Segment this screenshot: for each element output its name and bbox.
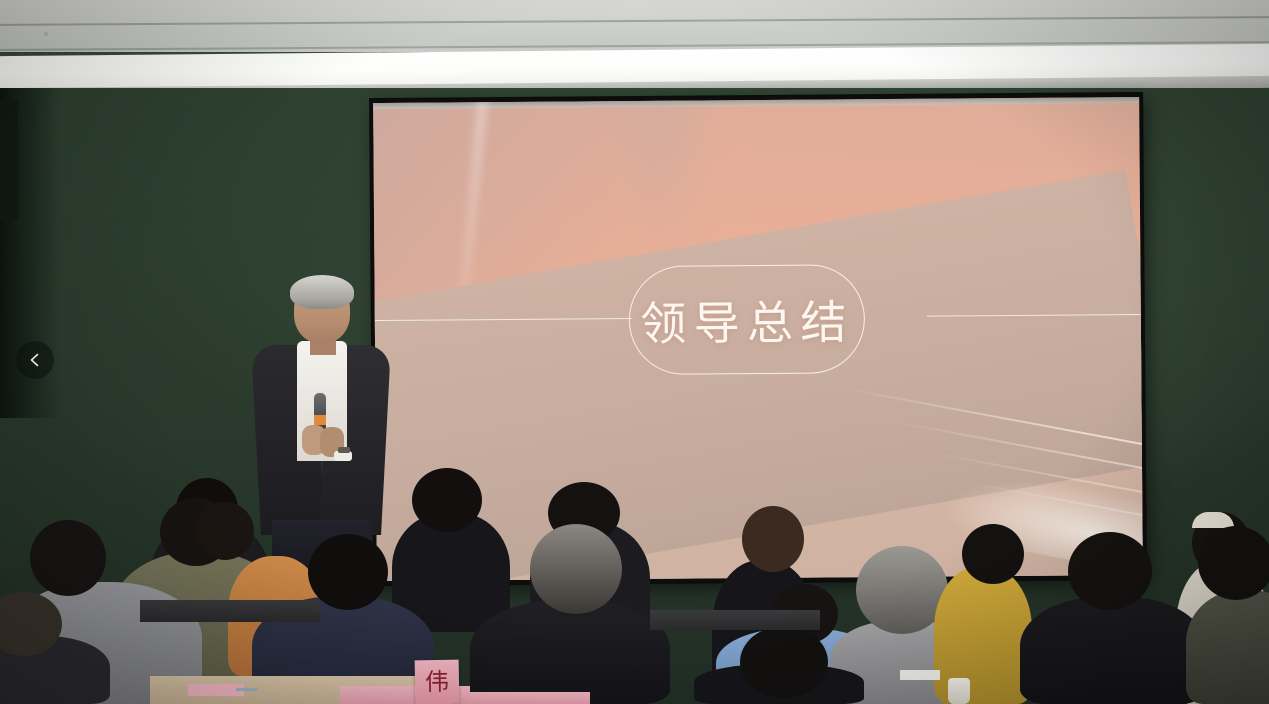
screen-top-bar bbox=[373, 97, 1139, 109]
speaker-hair bbox=[290, 275, 354, 309]
photo-viewer: 领导总结 bbox=[0, 0, 1269, 704]
attendee-black-jacket bbox=[1020, 596, 1206, 704]
previous-image-button[interactable] bbox=[16, 341, 54, 379]
pen bbox=[236, 688, 258, 691]
projection-screen: 领导总结 bbox=[373, 97, 1143, 581]
desk-skirt-right bbox=[470, 692, 590, 704]
attendee-gray-blazer-head bbox=[30, 520, 106, 596]
wall-panel-edge bbox=[0, 100, 18, 220]
attendee-navy-suit-head bbox=[308, 534, 388, 610]
attendee-dark-suit-center-head bbox=[530, 524, 622, 614]
desk-row-mid bbox=[650, 610, 820, 630]
ceiling-fixture-dot bbox=[44, 32, 48, 36]
white-paper bbox=[900, 670, 940, 680]
attendee-front-center-lower-head bbox=[740, 626, 828, 698]
microphone-accent-band bbox=[314, 415, 326, 425]
attendee-mustard-jacket-head bbox=[962, 524, 1024, 584]
speaker-wristwatch bbox=[338, 447, 350, 453]
headband-accessory bbox=[1192, 512, 1234, 528]
speaker-presenter bbox=[250, 275, 390, 575]
paper-cup bbox=[948, 678, 970, 704]
slide-title: 领导总结 bbox=[640, 286, 854, 354]
attendee-olive-jacket-head bbox=[1198, 526, 1269, 600]
attendee-black-turtleneck-head bbox=[742, 506, 804, 572]
attendee-orange-top-head bbox=[196, 502, 254, 560]
slide-title-pill: 领导总结 bbox=[629, 264, 865, 375]
name-placard-text: 伟 bbox=[425, 670, 449, 694]
chevron-left-icon bbox=[27, 352, 43, 368]
name-placard: 伟 bbox=[415, 660, 460, 704]
attendee-dark-suit-center bbox=[470, 600, 670, 704]
attendee-back-center-head bbox=[412, 468, 482, 532]
attendee-black-jacket-head bbox=[1068, 532, 1152, 610]
desk-row-back bbox=[140, 600, 320, 622]
